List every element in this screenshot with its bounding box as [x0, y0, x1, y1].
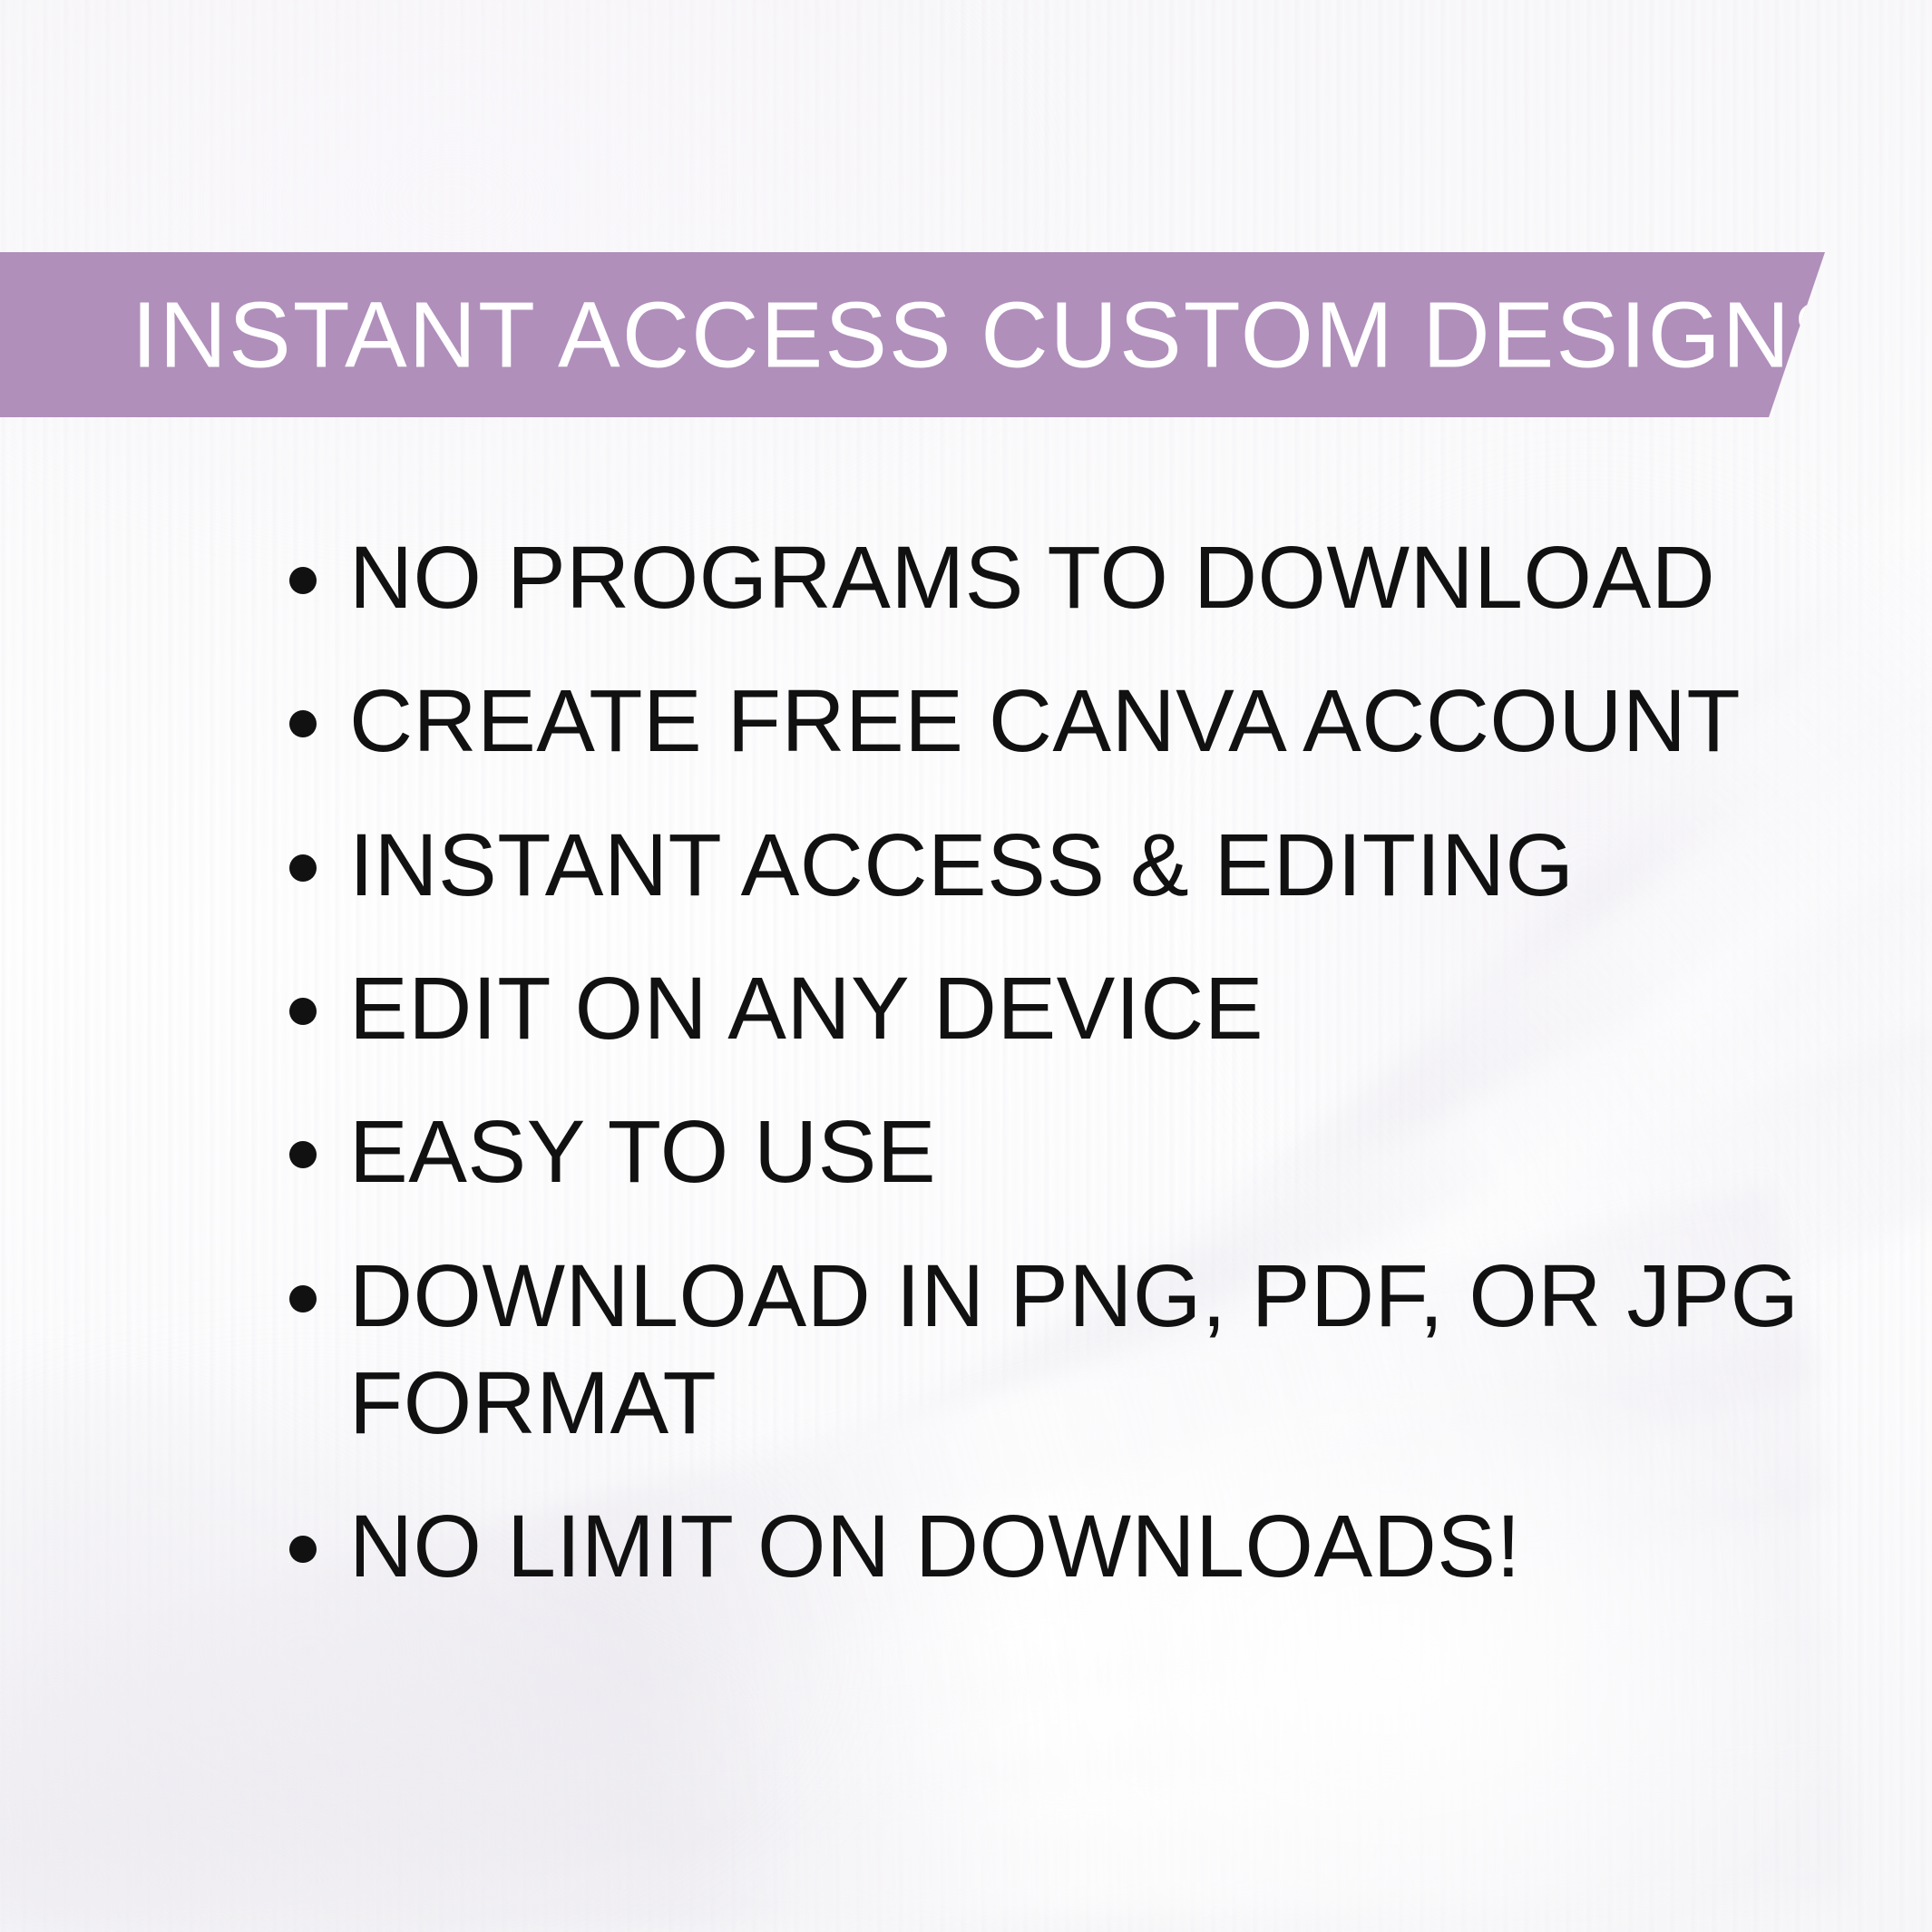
list-item: DOWNLOAD IN PNG, PDF, OR JPG FORMAT [277, 1243, 1855, 1458]
list-item-label: CREATE FREE CANVA ACCOUNT [349, 671, 1741, 770]
list-item: CREATE FREE CANVA ACCOUNT [277, 668, 1855, 775]
list-item: NO PROGRAMS TO DOWNLOAD [277, 524, 1855, 631]
design-canvas: INSTANT ACCESS CUSTOM DESIGNS NO PROGRAM… [0, 0, 1932, 1932]
feature-list: NO PROGRAMS TO DOWNLOAD CREATE FREE CANV… [277, 524, 1855, 1601]
bullet-icon [289, 1536, 317, 1563]
bullet-icon [289, 567, 317, 594]
header-banner: INSTANT ACCESS CUSTOM DESIGNS [0, 252, 1825, 417]
list-item-label: EASY TO USE [349, 1102, 936, 1201]
list-item: EASY TO USE [277, 1098, 1855, 1205]
bullet-icon [289, 998, 317, 1025]
list-item: INSTANT ACCESS & EDITING [277, 812, 1855, 919]
list-item-label: NO PROGRAMS TO DOWNLOAD [349, 528, 1715, 627]
bullet-icon [289, 710, 317, 737]
page-title: INSTANT ACCESS CUSTOM DESIGNS [132, 288, 1856, 382]
list-item: NO LIMIT ON DOWNLOADS! [277, 1493, 1855, 1600]
list-item-label: INSTANT ACCESS & EDITING [349, 815, 1575, 914]
list-item-label: DOWNLOAD IN PNG, PDF, OR JPG FORMAT [349, 1246, 1800, 1452]
bullet-icon [289, 1141, 317, 1168]
list-item-label: EDIT ON ANY DEVICE [349, 959, 1264, 1058]
bullet-icon [289, 1285, 317, 1312]
bullet-icon [289, 854, 317, 882]
list-item-label: NO LIMIT ON DOWNLOADS! [349, 1497, 1521, 1595]
list-item: EDIT ON ANY DEVICE [277, 955, 1855, 1062]
